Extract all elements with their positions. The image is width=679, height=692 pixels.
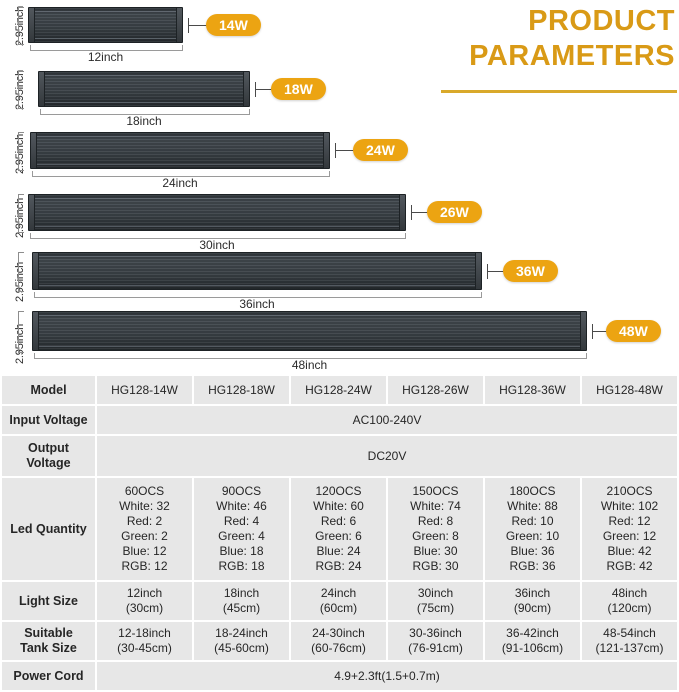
- tank-size-inch-2: 18-24inch: [195, 626, 288, 641]
- cell-led-2: 90OCS White: 46 Red: 4 Green: 4 Blue: 18…: [194, 478, 289, 580]
- height-bracket-1: [18, 7, 24, 45]
- tank-size-cm-3: (60-76cm): [292, 641, 385, 656]
- led-white-6: White: 102: [583, 499, 676, 514]
- led-white-1: White: 32: [98, 499, 191, 514]
- row-label-output-voltage: Output Voltage: [2, 436, 95, 476]
- led-ocs-4: 150OCS: [389, 484, 482, 499]
- cell-tank-size-2: 18-24inch (45-60cm): [194, 622, 289, 660]
- row-label-output-voltage-line1: Output: [3, 441, 94, 456]
- cell-model-6: HG128-48W: [582, 376, 677, 404]
- led-blue-1: Blue: 12: [98, 544, 191, 559]
- led-red-3: Red: 6: [292, 514, 385, 529]
- cell-light-size-6: 48inch (120cm): [582, 582, 677, 620]
- led-ocs-1: 60OCS: [98, 484, 191, 499]
- led-white-5: White: 88: [486, 499, 579, 514]
- width-label-2: 18inch: [40, 114, 248, 128]
- led-green-3: Green: 6: [292, 529, 385, 544]
- cell-light-size-4: 30inch (75cm): [388, 582, 483, 620]
- table-row-tank-size: Suitable Tank Size 12-18inch (30-45cm) 1…: [2, 622, 677, 660]
- cell-led-4: 150OCS White: 74 Red: 8 Green: 8 Blue: 3…: [388, 478, 483, 580]
- led-ocs-5: 180OCS: [486, 484, 579, 499]
- lamp-bar-4: [28, 194, 406, 231]
- table-row-model: Model HG128-14W HG128-18W HG128-24W HG12…: [2, 376, 677, 404]
- led-red-1: Red: 2: [98, 514, 191, 529]
- led-rgb-6: RGB: 42: [583, 559, 676, 574]
- row-label-output-voltage-line2: Voltage: [3, 456, 94, 471]
- led-red-2: Red: 4: [195, 514, 288, 529]
- tank-size-cm-6: (121-137cm): [583, 641, 676, 656]
- wattage-badge-48w: 48W: [606, 320, 661, 342]
- table-row-led-quantity: Led Quantity 60OCS White: 32 Red: 2 Gree…: [2, 478, 677, 580]
- led-green-2: Green: 4: [195, 529, 288, 544]
- lamp-inner-1: [32, 11, 179, 39]
- lamp-endcap-left-5: [32, 252, 39, 290]
- lamp-endcap-left-3: [30, 132, 37, 169]
- lamp-bar-2: [38, 71, 250, 107]
- light-size-inch-3: 24inch: [292, 586, 385, 601]
- led-white-3: White: 60: [292, 499, 385, 514]
- row-label-power-cord: Power Cord: [2, 662, 95, 690]
- cell-light-size-1: 12inch (30cm): [97, 582, 192, 620]
- table-row-output-voltage: Output Voltage DC20V: [2, 436, 677, 476]
- led-rgb-5: RGB: 36: [486, 559, 579, 574]
- height-bracket-5: [18, 252, 24, 292]
- cell-power-cord-value: 4.9+2.3ft(1.5+0.7m): [97, 662, 677, 690]
- cell-tank-size-6: 48-54inch (121-137cm): [582, 622, 677, 660]
- cell-tank-size-4: 30-36inch (76-91cm): [388, 622, 483, 660]
- wattage-badge-36w: 36W: [503, 260, 558, 282]
- light-size-cm-3: (60cm): [292, 601, 385, 616]
- lamp-bar-5: [32, 252, 482, 290]
- lamp-endcap-right-1: [176, 7, 183, 43]
- wattage-badge-14w: 14W: [206, 14, 261, 36]
- led-blue-3: Blue: 24: [292, 544, 385, 559]
- light-size-inch-1: 12inch: [98, 586, 191, 601]
- cell-tank-size-1: 12-18inch (30-45cm): [97, 622, 192, 660]
- light-size-cm-4: (75cm): [389, 601, 482, 616]
- lamp-endcap-left-6: [32, 311, 39, 351]
- cell-light-size-5: 36inch (90cm): [485, 582, 580, 620]
- leader-line-1: [188, 25, 208, 26]
- cell-model-4: HG128-26W: [388, 376, 483, 404]
- light-size-inch-4: 30inch: [389, 586, 482, 601]
- wattage-badge-18w: 18W: [271, 78, 326, 100]
- height-bracket-3: [18, 132, 24, 171]
- led-red-6: Red: 12: [583, 514, 676, 529]
- height-bracket-2: [18, 71, 24, 109]
- led-ocs-3: 120OCS: [292, 484, 385, 499]
- led-white-4: White: 74: [389, 499, 482, 514]
- table-row-power-cord: Power Cord 4.9+2.3ft(1.5+0.7m): [2, 662, 677, 690]
- light-size-inch-6: 48inch: [583, 586, 676, 601]
- led-green-5: Green: 10: [486, 529, 579, 544]
- product-parameters-table: Model HG128-14W HG128-18W HG128-24W HG12…: [0, 374, 679, 692]
- row-label-model: Model: [2, 376, 95, 404]
- lamp-bar-3: [30, 132, 330, 169]
- lamp-endcap-left-4: [28, 194, 35, 231]
- lamp-endcap-right-3: [323, 132, 330, 169]
- leader-line-3: [335, 150, 355, 151]
- table-row-input-voltage: Input Voltage AC100-240V: [2, 406, 677, 434]
- cell-output-voltage-value: DC20V: [97, 436, 677, 476]
- height-bracket-4: [18, 194, 24, 233]
- light-size-inch-2: 18inch: [195, 586, 288, 601]
- lamp-endcap-left-2: [38, 71, 45, 107]
- wattage-badge-26w: 26W: [427, 201, 482, 223]
- cell-model-5: HG128-36W: [485, 376, 580, 404]
- lamp-endcap-right-5: [475, 252, 482, 290]
- led-blue-6: Blue: 42: [583, 544, 676, 559]
- led-ocs-6: 210OCS: [583, 484, 676, 499]
- row-label-tank-size-line2: Tank Size: [3, 641, 94, 656]
- led-green-6: Green: 12: [583, 529, 676, 544]
- led-red-4: Red: 8: [389, 514, 482, 529]
- height-bracket-6: [18, 311, 24, 353]
- tank-size-cm-2: (45-60cm): [195, 641, 288, 656]
- width-label-6: 48inch: [34, 358, 585, 372]
- led-green-1: Green: 2: [98, 529, 191, 544]
- led-rgb-1: RGB: 12: [98, 559, 191, 574]
- table-row-light-size: Light Size 12inch (30cm) 18inch (45cm) 2…: [2, 582, 677, 620]
- led-rgb-2: RGB: 18: [195, 559, 288, 574]
- lamp-endcap-right-2: [243, 71, 250, 107]
- light-size-cm-1: (30cm): [98, 601, 191, 616]
- row-label-tank-size: Suitable Tank Size: [2, 622, 95, 660]
- wattage-badge-24w: 24W: [353, 139, 408, 161]
- led-rgb-3: RGB: 24: [292, 559, 385, 574]
- tank-size-cm-4: (76-91cm): [389, 641, 482, 656]
- cell-model-3: HG128-24W: [291, 376, 386, 404]
- lamp-bar-1: [28, 7, 183, 43]
- lamp-inner-5: [36, 256, 478, 286]
- row-label-input-voltage: Input Voltage: [2, 406, 95, 434]
- light-size-cm-2: (45cm): [195, 601, 288, 616]
- cell-led-3: 120OCS White: 60 Red: 6 Green: 6 Blue: 2…: [291, 478, 386, 580]
- cell-light-size-2: 18inch (45cm): [194, 582, 289, 620]
- row-label-light-size: Light Size: [2, 582, 95, 620]
- tank-size-inch-3: 24-30inch: [292, 626, 385, 641]
- tank-size-inch-6: 48-54inch: [583, 626, 676, 641]
- lamp-inner-3: [34, 136, 326, 165]
- width-label-3: 24inch: [32, 176, 328, 190]
- light-size-inch-5: 36inch: [486, 586, 579, 601]
- tank-size-inch-1: 12-18inch: [98, 626, 191, 641]
- cell-led-6: 210OCS White: 102 Red: 12 Green: 12 Blue…: [582, 478, 677, 580]
- lamp-endcap-right-6: [580, 311, 587, 351]
- tank-size-cm-1: (30-45cm): [98, 641, 191, 656]
- width-label-4: 30inch: [30, 238, 404, 252]
- cell-light-size-3: 24inch (60cm): [291, 582, 386, 620]
- lamp-inner-2: [42, 75, 246, 103]
- cell-model-2: HG128-18W: [194, 376, 289, 404]
- row-label-tank-size-line1: Suitable: [3, 626, 94, 641]
- width-label-1: 12inch: [30, 50, 181, 64]
- led-blue-2: Blue: 18: [195, 544, 288, 559]
- led-blue-4: Blue: 30: [389, 544, 482, 559]
- lamp-inner-4: [32, 198, 402, 227]
- product-dimension-diagram: 2.95inch 12inch 14W 2.95inch 18inch 18W …: [0, 0, 679, 372]
- cell-input-voltage-value: AC100-240V: [97, 406, 677, 434]
- tank-size-inch-5: 36-42inch: [486, 626, 579, 641]
- tank-size-inch-4: 30-36inch: [389, 626, 482, 641]
- led-blue-5: Blue: 36: [486, 544, 579, 559]
- led-white-2: White: 46: [195, 499, 288, 514]
- led-red-5: Red: 10: [486, 514, 579, 529]
- cell-led-1: 60OCS White: 32 Red: 2 Green: 2 Blue: 12…: [97, 478, 192, 580]
- tank-size-cm-5: (91-106cm): [486, 641, 579, 656]
- row-label-led-quantity: Led Quantity: [2, 478, 95, 580]
- cell-model-1: HG128-14W: [97, 376, 192, 404]
- width-label-5: 36inch: [34, 297, 480, 311]
- cell-led-5: 180OCS White: 88 Red: 10 Green: 10 Blue:…: [485, 478, 580, 580]
- lamp-endcap-right-4: [399, 194, 406, 231]
- lamp-bar-6: [32, 311, 587, 351]
- led-green-4: Green: 8: [389, 529, 482, 544]
- led-rgb-4: RGB: 30: [389, 559, 482, 574]
- lamp-endcap-left-1: [28, 7, 35, 43]
- light-size-cm-6: (120cm): [583, 601, 676, 616]
- lamp-inner-6: [36, 315, 583, 347]
- led-ocs-2: 90OCS: [195, 484, 288, 499]
- light-size-cm-5: (90cm): [486, 601, 579, 616]
- cell-tank-size-3: 24-30inch (60-76cm): [291, 622, 386, 660]
- cell-tank-size-5: 36-42inch (91-106cm): [485, 622, 580, 660]
